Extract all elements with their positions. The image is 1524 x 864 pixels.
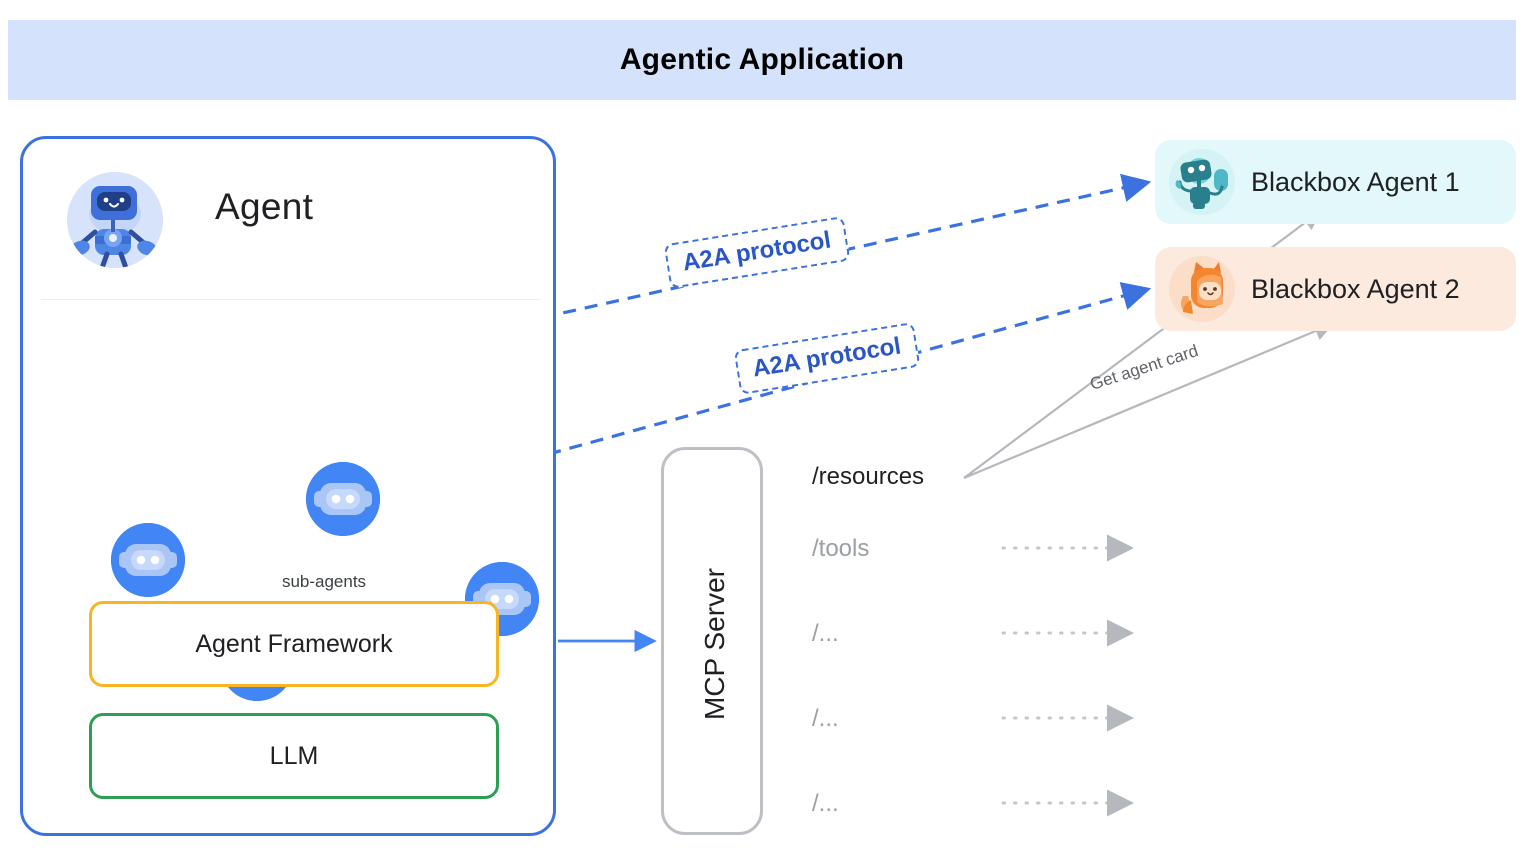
blackbox-agent-2-label: Blackbox Agent 2 bbox=[1251, 274, 1460, 305]
agent-card[interactable]: Agent bbox=[20, 136, 556, 836]
endpoint-other-1[interactable]: /... bbox=[812, 620, 839, 648]
agent-framework-box[interactable]: Agent Framework bbox=[89, 601, 499, 687]
sub-agent-top[interactable] bbox=[306, 462, 380, 536]
agentic-application-banner: Agentic Application bbox=[8, 20, 1516, 100]
mcp-server-box[interactable]: MCP Server bbox=[661, 447, 763, 835]
diagram-canvas: Agentic Application bbox=[0, 0, 1524, 864]
teal-robot-avatar-icon bbox=[1169, 149, 1235, 215]
endpoint-other-2[interactable]: /... bbox=[812, 705, 839, 733]
endpoint-tools[interactable]: /tools bbox=[812, 535, 869, 563]
sub-agents-label: sub-agents bbox=[257, 572, 391, 592]
orange-cat-avatar-icon bbox=[1169, 256, 1235, 322]
mcp-server-label: MCP Server bbox=[699, 568, 731, 720]
endpoint-resources[interactable]: /resources bbox=[812, 463, 924, 491]
sub-agent-left[interactable] bbox=[111, 523, 185, 597]
get-agent-card-arrow-2 bbox=[964, 325, 1330, 478]
agent-card-divider bbox=[41, 299, 541, 300]
get-agent-card-label: Get agent card bbox=[1088, 341, 1201, 395]
agent-robot-avatar-icon bbox=[67, 172, 163, 268]
llm-box[interactable]: LLM bbox=[89, 713, 499, 799]
blackbox-agent-1-label: Blackbox Agent 1 bbox=[1251, 167, 1460, 198]
endpoint-other-3[interactable]: /... bbox=[812, 790, 839, 818]
a2a-protocol-chip-2: A2A protocol bbox=[734, 322, 921, 395]
mcp-server-label-wrap: MCP Server bbox=[664, 450, 766, 838]
page-title: Agentic Application bbox=[620, 43, 904, 77]
llm-label: LLM bbox=[270, 742, 319, 771]
a2a-protocol-chip-1: A2A protocol bbox=[664, 216, 851, 289]
agent-card-title: Agent bbox=[215, 186, 313, 228]
blackbox-agent-2-card[interactable]: Blackbox Agent 2 bbox=[1155, 247, 1516, 331]
blackbox-agent-1-card[interactable]: Blackbox Agent 1 bbox=[1155, 140, 1516, 224]
agent-framework-label: Agent Framework bbox=[195, 630, 392, 659]
